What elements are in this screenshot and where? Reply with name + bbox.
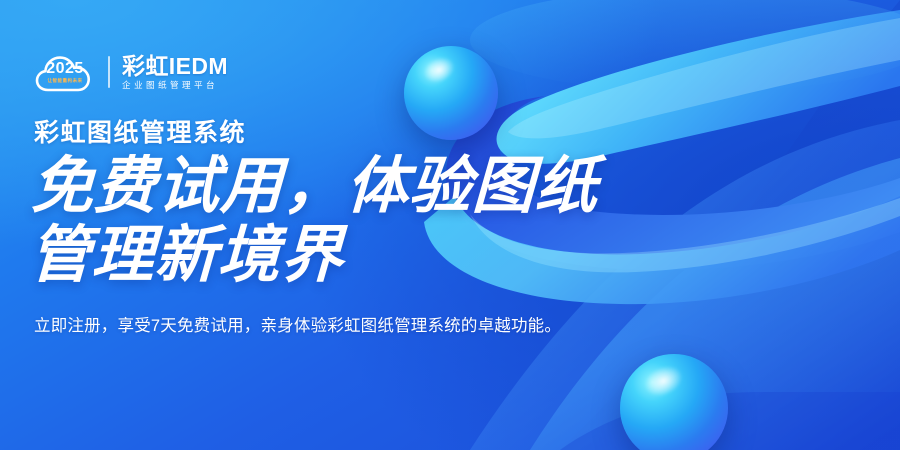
headline: 免费试用，体验图纸 管理新境界 bbox=[28, 152, 733, 291]
headline-line-1: 免费试用，体验图纸 bbox=[30, 152, 599, 221]
logo-year-tagline: 让智能重构未来 bbox=[38, 79, 92, 84]
cloud-icon: 2025 让智能重构未来 bbox=[34, 50, 96, 94]
headline-line-2: 管理新境界 bbox=[28, 221, 730, 290]
logo-brand-name: 彩虹IEDM bbox=[122, 54, 228, 78]
description-text: 立即注册，享受7天免费试用，亲身体验彩虹图纸管理系统的卓越功能。 bbox=[34, 313, 624, 340]
decorative-sphere-top bbox=[404, 46, 498, 140]
logo-wordmark: 彩虹IEDM 企业图纸管理平台 bbox=[122, 54, 228, 91]
promo-banner: 2025 让智能重构未来 彩虹IEDM 企业图纸管理平台 彩虹图纸管理系统 免费… bbox=[0, 0, 900, 450]
logo-year: 2025 bbox=[38, 61, 92, 77]
product-name: 彩虹图纸管理系统 bbox=[34, 113, 246, 149]
logo-divider bbox=[108, 56, 110, 88]
logo-subtitle: 企业图纸管理平台 bbox=[122, 81, 228, 90]
brand-logo[interactable]: 2025 让智能重构未来 彩虹IEDM 企业图纸管理平台 bbox=[34, 50, 228, 94]
